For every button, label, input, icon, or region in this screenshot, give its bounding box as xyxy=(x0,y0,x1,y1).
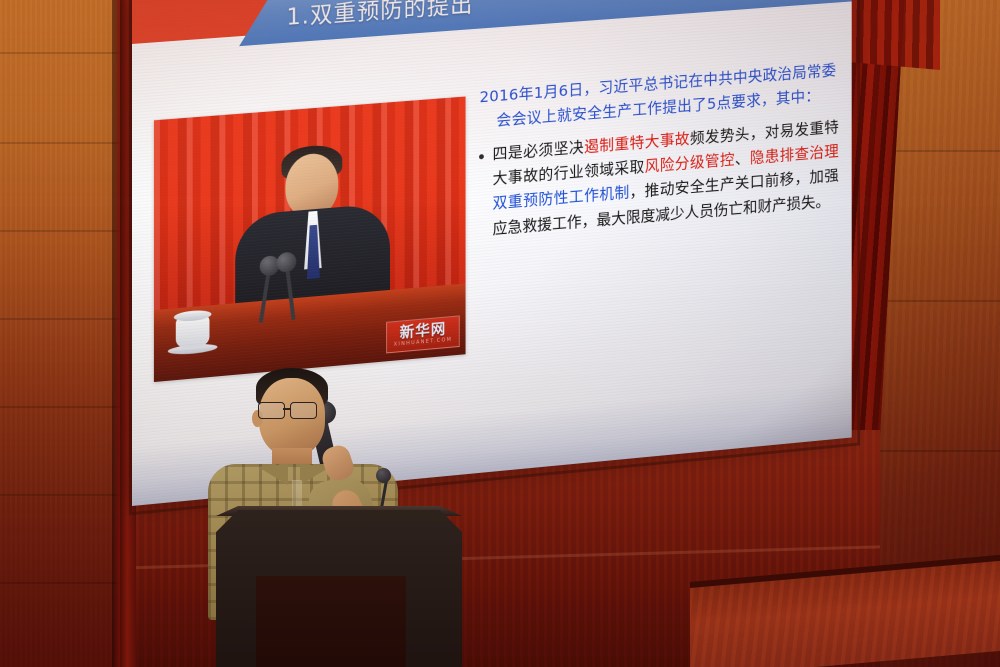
eyeglasses xyxy=(258,402,326,417)
lectern-base xyxy=(256,576,406,667)
gooseneck-mic-head-icon xyxy=(376,468,391,483)
photograph-scene: 1.双重预防的提出 新华网 XINHUANET.COM xyxy=(0,0,1000,667)
presenter xyxy=(196,368,464,667)
left-wood-wall xyxy=(0,0,128,667)
wood-grain-texture-left xyxy=(0,0,128,667)
